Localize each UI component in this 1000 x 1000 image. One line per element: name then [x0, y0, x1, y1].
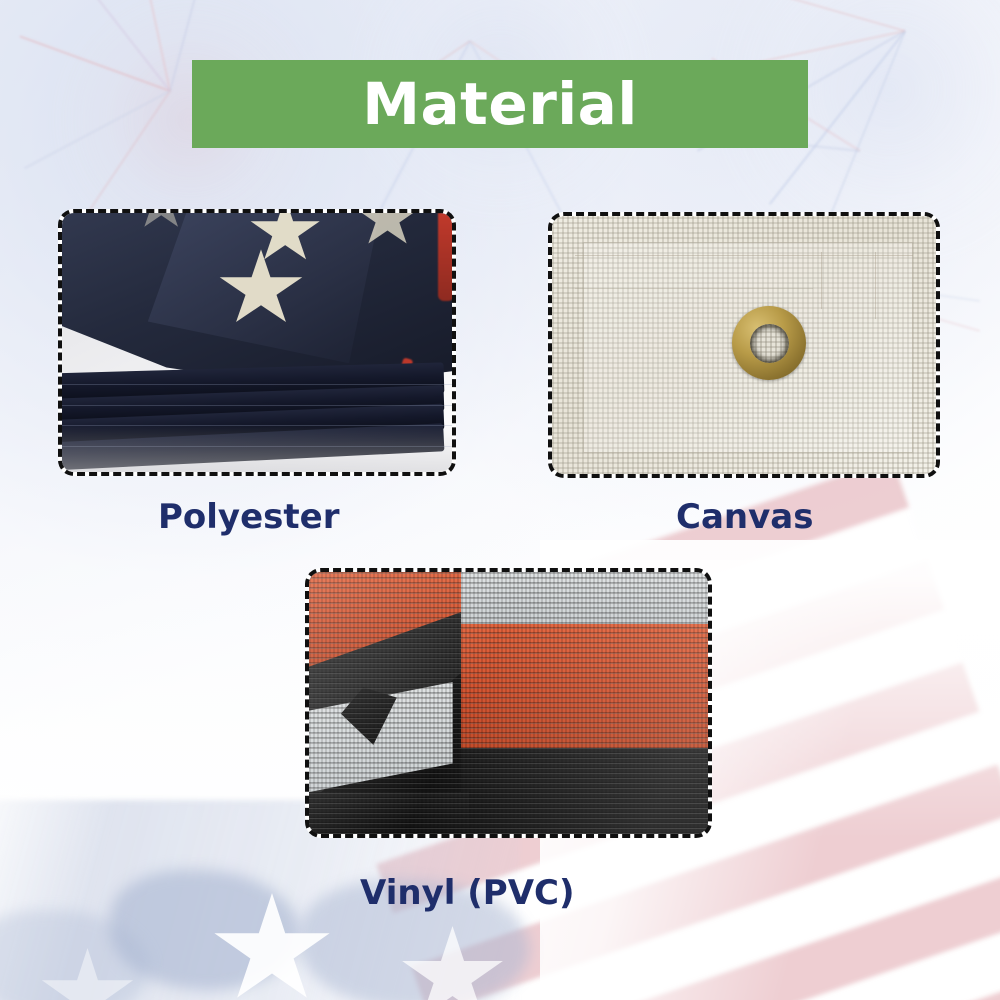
- caption-polyester: Polyester: [158, 500, 339, 534]
- flag-stripes-background: [0, 0, 1000, 1000]
- photo-vinyl-pvc: [305, 568, 712, 838]
- background-wash: [0, 0, 1000, 1000]
- page-title: Material: [362, 75, 637, 133]
- caption-canvas: Canvas: [676, 500, 813, 534]
- photo-canvas: [548, 212, 940, 478]
- fireworks-background: [0, 0, 1000, 1000]
- header-banner: Material: [192, 60, 808, 148]
- photo-polyester: [58, 209, 456, 476]
- star-field-background: [0, 0, 1000, 1000]
- star-icon: [212, 893, 332, 1000]
- star-icon: [40, 948, 135, 1000]
- caption-vinyl-pvc: Vinyl (PVC): [360, 876, 575, 910]
- infographic-root: Material: [0, 0, 1000, 1000]
- star-icon: [400, 926, 505, 1000]
